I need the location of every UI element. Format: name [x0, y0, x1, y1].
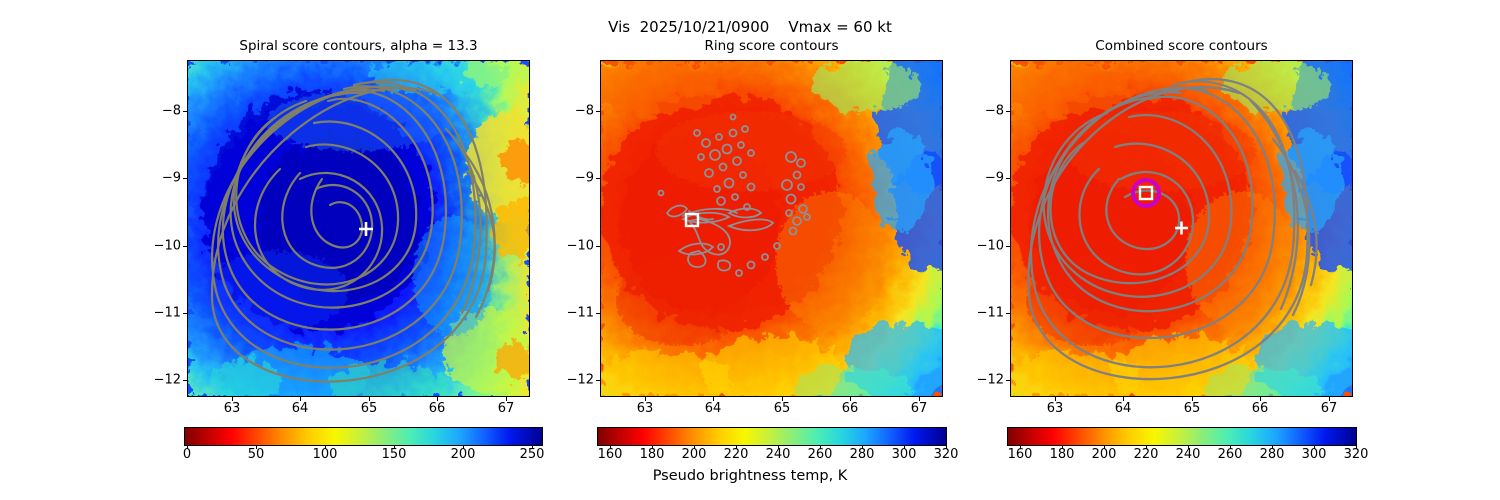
- figure-suptitle: Vis 2025/10/21/0900 Vmax = 60 kt: [0, 18, 1500, 36]
- ytick-label: −11: [958, 306, 1004, 321]
- ytick-mark: [183, 313, 187, 314]
- panel-ring-image: [601, 61, 943, 397]
- xtick-label: 65: [762, 401, 802, 416]
- ytick-mark: [596, 246, 600, 247]
- cbar-tick-label: 200: [672, 447, 716, 462]
- panel-ring-axes[interactable]: [600, 60, 943, 397]
- panel-spiral-image: [188, 61, 530, 397]
- xtick-mark: [850, 397, 851, 401]
- xtick-mark: [645, 397, 646, 401]
- ytick-label: −8: [966, 104, 1004, 119]
- ytick-mark: [596, 313, 600, 314]
- colorbar-combined: 160 180 200 220 240 260 280 300 320: [1007, 427, 1357, 446]
- ytick-mark: [183, 246, 187, 247]
- cbar-tick-label: 320: [924, 447, 968, 462]
- cbar-tick-label: 300: [882, 447, 926, 462]
- cbar-tick-label: 240: [756, 447, 800, 462]
- ytick-label: −9: [143, 171, 181, 186]
- ytick-label: −9: [556, 171, 594, 186]
- cbar-tick-label: 220: [714, 447, 758, 462]
- xtick-label: 67: [486, 401, 526, 416]
- ytick-label: −12: [548, 373, 594, 388]
- figure-canvas: Vis 2025/10/21/0900 Vmax = 60 kt Spiral …: [0, 0, 1500, 500]
- ytick-label: −12: [135, 373, 181, 388]
- panel-ring-title: Ring score contours: [600, 38, 943, 54]
- panel-combined-title: Combined score contours: [1010, 38, 1353, 54]
- ytick-mark: [1006, 380, 1010, 381]
- ytick-mark: [1006, 246, 1010, 247]
- xtick-mark: [1329, 397, 1330, 401]
- ytick-label: −12: [958, 373, 1004, 388]
- cbar-tick-label: 280: [1250, 447, 1294, 462]
- xtick-mark: [1123, 397, 1124, 401]
- ytick-label: −11: [548, 306, 594, 321]
- cbar-tick-label: 50: [236, 447, 276, 462]
- ytick-label: −8: [143, 104, 181, 119]
- panel-ring: Ring score contours: [600, 60, 943, 397]
- cbar-tick-label: 200: [441, 447, 485, 462]
- ytick-label: −11: [135, 306, 181, 321]
- colorbar-spiral: 0 50 100 150 200 250: [184, 427, 543, 446]
- panel-combined: Combined score contours: [1010, 60, 1353, 397]
- xtick-label: 66: [1240, 401, 1280, 416]
- ytick-label: −8: [556, 104, 594, 119]
- cbar-tick-label: 260: [1208, 447, 1252, 462]
- ytick-label: −10: [548, 239, 594, 254]
- xtick-mark: [369, 397, 370, 401]
- cbar-tick-label: 150: [372, 447, 416, 462]
- colorbar-ring: 160 180 200 220 240 260 280 300 320: [597, 427, 947, 446]
- cbar-tick-label: 200: [1082, 447, 1126, 462]
- xtick-label: 67: [899, 401, 939, 416]
- panel-combined-axes[interactable]: [1010, 60, 1353, 397]
- ytick-mark: [596, 178, 600, 179]
- xtick-label: 65: [349, 401, 389, 416]
- panel-spiral-axes[interactable]: [187, 60, 530, 397]
- xtick-mark: [506, 397, 507, 401]
- xtick-mark: [782, 397, 783, 401]
- ytick-mark: [1006, 111, 1010, 112]
- cbar-tick-label: 160: [588, 447, 632, 462]
- cbar-tick-label: 180: [1040, 447, 1084, 462]
- xtick-label: 64: [280, 401, 320, 416]
- ytick-mark: [1006, 313, 1010, 314]
- xtick-label: 64: [693, 401, 733, 416]
- figure-xlabel: Pseudo brightness temp, K: [0, 468, 1500, 484]
- xtick-label: 66: [417, 401, 457, 416]
- cbar-tick-label: 0: [167, 447, 207, 462]
- xtick-label: 63: [625, 401, 665, 416]
- cbar-tick-label: 240: [1166, 447, 1210, 462]
- xtick-label: 67: [1309, 401, 1349, 416]
- ytick-mark: [183, 380, 187, 381]
- cbar-tick-label: 100: [303, 447, 347, 462]
- xtick-mark: [713, 397, 714, 401]
- xtick-label: 63: [212, 401, 252, 416]
- xtick-mark: [1055, 397, 1056, 401]
- cbar-tick-label: 160: [998, 447, 1042, 462]
- xtick-label: 66: [830, 401, 870, 416]
- panel-spiral: Spiral score contours, alpha = 13.3: [187, 60, 530, 397]
- xtick-mark: [437, 397, 438, 401]
- ytick-mark: [596, 380, 600, 381]
- xtick-label: 63: [1035, 401, 1075, 416]
- ytick-label: −10: [958, 239, 1004, 254]
- cbar-tick-label: 250: [510, 447, 554, 462]
- xtick-mark: [1192, 397, 1193, 401]
- xtick-label: 64: [1103, 401, 1143, 416]
- xtick-mark: [300, 397, 301, 401]
- ytick-label: −10: [135, 239, 181, 254]
- panel-spiral-title: Spiral score contours, alpha = 13.3: [187, 38, 530, 54]
- ytick-mark: [596, 111, 600, 112]
- ytick-mark: [183, 111, 187, 112]
- cbar-tick-label: 180: [630, 447, 674, 462]
- cbar-tick-label: 320: [1334, 447, 1378, 462]
- ytick-label: −9: [966, 171, 1004, 186]
- ytick-mark: [1006, 178, 1010, 179]
- cbar-tick-label: 300: [1292, 447, 1336, 462]
- xtick-mark: [919, 397, 920, 401]
- cbar-tick-label: 260: [798, 447, 842, 462]
- ytick-mark: [183, 178, 187, 179]
- xtick-mark: [1260, 397, 1261, 401]
- xtick-label: 65: [1172, 401, 1212, 416]
- cbar-tick-label: 220: [1124, 447, 1168, 462]
- panel-combined-image: [1011, 61, 1353, 397]
- xtick-mark: [232, 397, 233, 401]
- cbar-tick-label: 280: [840, 447, 884, 462]
